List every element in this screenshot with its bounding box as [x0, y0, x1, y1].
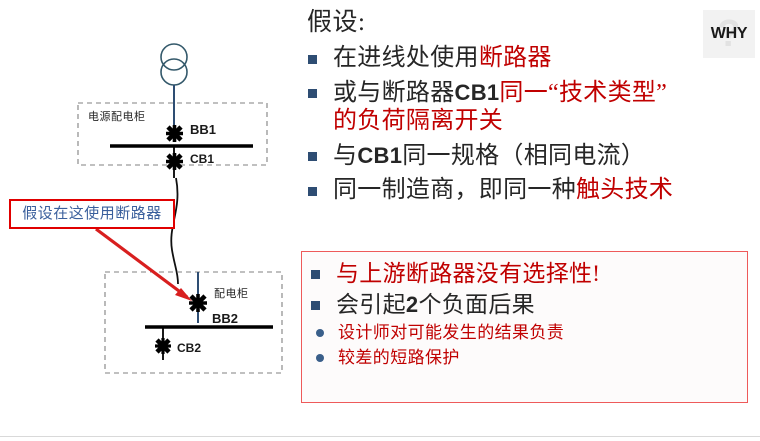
- callout-arrow: [96, 229, 192, 301]
- square-bullet-icon: [311, 270, 320, 279]
- device-label-cb2: CB2: [177, 341, 201, 355]
- sub-consequence-text: 设计师对可能发生的结果负责: [338, 323, 564, 342]
- text-segment: 与上游断路器没有选择性!: [336, 261, 600, 286]
- square-bullet-icon: [308, 55, 317, 64]
- breaker-symbol-cb1: [166, 153, 183, 170]
- slide-canvas: ? WHY: [0, 0, 760, 441]
- square-bullet-icon: [311, 301, 320, 310]
- consequences-list: 与上游断路器没有选择性! 会引起2个负面后果: [302, 252, 747, 320]
- square-bullet-icon: [308, 89, 317, 98]
- assumption-item: 或与断路器CB1同一“技术类型”的负荷隔离开关: [305, 77, 755, 137]
- bus-label-bb2: BB2: [212, 311, 238, 326]
- assumption-item: 在进线处使用断路器: [305, 43, 755, 74]
- sub-consequence-text: 较差的短路保护: [338, 348, 460, 367]
- text-segment: 与: [333, 143, 357, 169]
- breaker-symbol-cb2: [155, 338, 171, 354]
- breaker-symbol-bb2-incomer: [189, 294, 207, 312]
- assumption-item: 与CB1同一规格（相同电流）: [305, 140, 755, 172]
- device-label-cb1: CB1: [190, 152, 214, 166]
- text-segment: 个负面后果: [418, 292, 535, 317]
- assumption-item: 同一制造商，即同一种触头技术: [305, 175, 755, 206]
- consequence-item: 会引起2个负面后果: [308, 289, 747, 320]
- text-segment: 触头技术: [576, 177, 673, 203]
- sub-consequence-item: 设计师对可能发生的结果负责: [302, 320, 747, 345]
- text-segment: 断路器: [479, 45, 552, 71]
- transformer-icon: [161, 44, 187, 85]
- round-bullet-icon: [316, 354, 324, 362]
- consequences-sublist: 设计师对可能发生的结果负责 较差的短路保护: [302, 320, 747, 370]
- text-segment: CB1: [357, 143, 402, 168]
- interconnect-cable: [171, 178, 178, 284]
- bus-label-bb1: BB1: [190, 122, 216, 137]
- text-line: 的负荷隔离开关: [333, 106, 755, 137]
- assumptions-heading: 假设:: [305, 6, 755, 40]
- text-segment: 2: [406, 292, 419, 317]
- load-cabinet-label: 配电柜: [214, 285, 249, 301]
- source-cabinet-label: 电源配电柜: [88, 108, 146, 124]
- assumptions-block: 假设: 在进线处使用断路器 或与断路器CB1同一“技术类型”的负荷隔离开关 与C…: [305, 6, 755, 206]
- square-bullet-icon: [308, 187, 317, 196]
- square-bullet-icon: [308, 152, 317, 161]
- text-segment: 会引起: [336, 292, 406, 317]
- sub-consequence-item: 较差的短路保护: [302, 345, 747, 370]
- text-segment: 同一制造商，即同一种: [333, 177, 576, 203]
- consequence-item: 与上游断路器没有选择性!: [308, 258, 747, 289]
- text-segment: 同一规格（相同电流）: [402, 143, 645, 169]
- bottom-divider: [0, 436, 760, 437]
- text-segment: CB1: [455, 80, 500, 105]
- load-cabinet-outline: [105, 272, 282, 373]
- text-segment: 或与断路器: [333, 80, 455, 106]
- breaker-symbol-bb1-incomer: [166, 125, 183, 142]
- callout-text: 假设在这使用断路器: [11, 201, 173, 227]
- callout-box: 假设在这使用断路器: [9, 199, 175, 229]
- assumptions-list: 在进线处使用断路器 或与断路器CB1同一“技术类型”的负荷隔离开关 与CB1同一…: [305, 43, 755, 206]
- consequences-box: 与上游断路器没有选择性! 会引起2个负面后果 设计师对可能发生的结果负责 较差的…: [301, 251, 748, 403]
- text-segment: 的负荷隔离开关: [333, 108, 503, 134]
- text-segment: 在进线处使用: [333, 45, 479, 71]
- round-bullet-icon: [316, 329, 324, 337]
- text-segment: 同一“技术类型”: [499, 80, 667, 106]
